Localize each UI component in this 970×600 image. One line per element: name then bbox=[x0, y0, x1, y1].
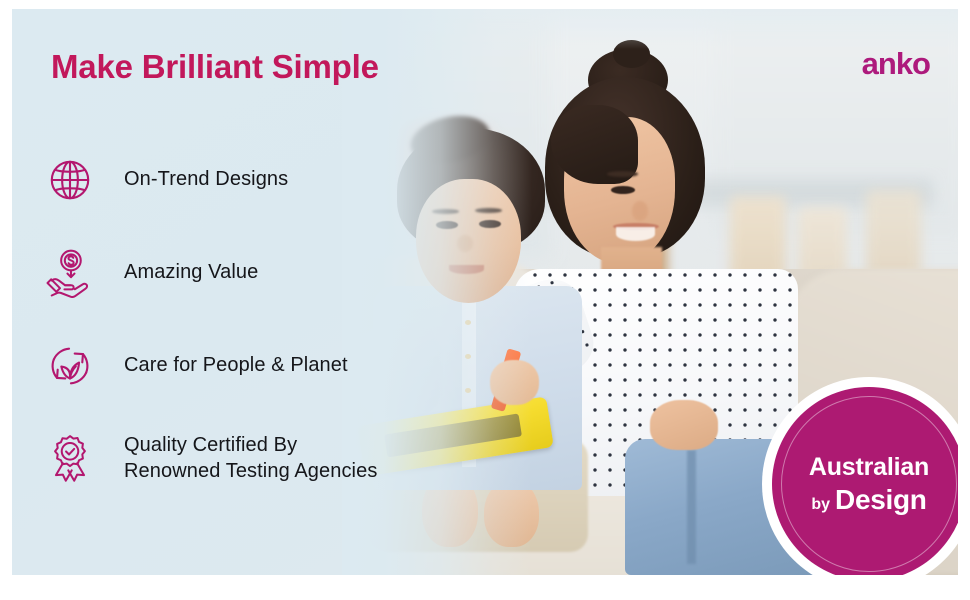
feature-label: Care for People & Planet bbox=[124, 353, 348, 379]
badge-word-design: Design bbox=[835, 484, 927, 516]
feature-item-amazing-value: Amazing Value bbox=[38, 238, 458, 308]
mother-smile bbox=[616, 227, 655, 241]
mother-eye bbox=[611, 186, 636, 194]
feature-list: On-Trend Designs bbox=[38, 145, 458, 494]
feature-label-line1: Quality Certified By bbox=[124, 434, 297, 456]
badge-line-australian: Australian bbox=[809, 453, 929, 482]
page-title: Make Brilliant Simple bbox=[51, 48, 379, 86]
badge-word-by: by bbox=[811, 496, 830, 514]
award-rosette-icon bbox=[38, 427, 102, 491]
mother-eyebrow bbox=[607, 171, 638, 177]
feature-label: On-Trend Designs bbox=[124, 167, 288, 193]
feature-item-on-trend-designs: On-Trend Designs bbox=[38, 145, 458, 215]
badge-line-by-design: by Design bbox=[811, 484, 926, 516]
feature-label: Quality Certified ByRenowned Testing Age… bbox=[124, 433, 377, 484]
mother-nose bbox=[632, 201, 648, 220]
feature-label: Amazing Value bbox=[124, 260, 258, 286]
badge-text: Australian by Design bbox=[762, 377, 958, 575]
feature-item-quality-certified: Quality Certified ByRenowned Testing Age… bbox=[38, 424, 458, 494]
recycle-leaf-icon bbox=[38, 334, 102, 398]
anko-brand-banner: Make Brilliant Simple anko On-Trend Desi… bbox=[0, 0, 970, 600]
mother-hand-on-lap bbox=[650, 400, 718, 451]
banner-panel: Make Brilliant Simple anko On-Trend Desi… bbox=[12, 9, 958, 575]
anko-logo: anko bbox=[862, 48, 930, 79]
globe-icon bbox=[38, 148, 102, 212]
hand-coin-icon bbox=[38, 241, 102, 305]
feature-label-line2: Renowned Testing Agencies bbox=[124, 460, 377, 482]
feature-item-care-for-people-planet: Care for People & Planet bbox=[38, 331, 458, 401]
australian-by-design-badge: Australian by Design bbox=[762, 377, 958, 575]
mother-jeans-seam bbox=[687, 450, 696, 563]
